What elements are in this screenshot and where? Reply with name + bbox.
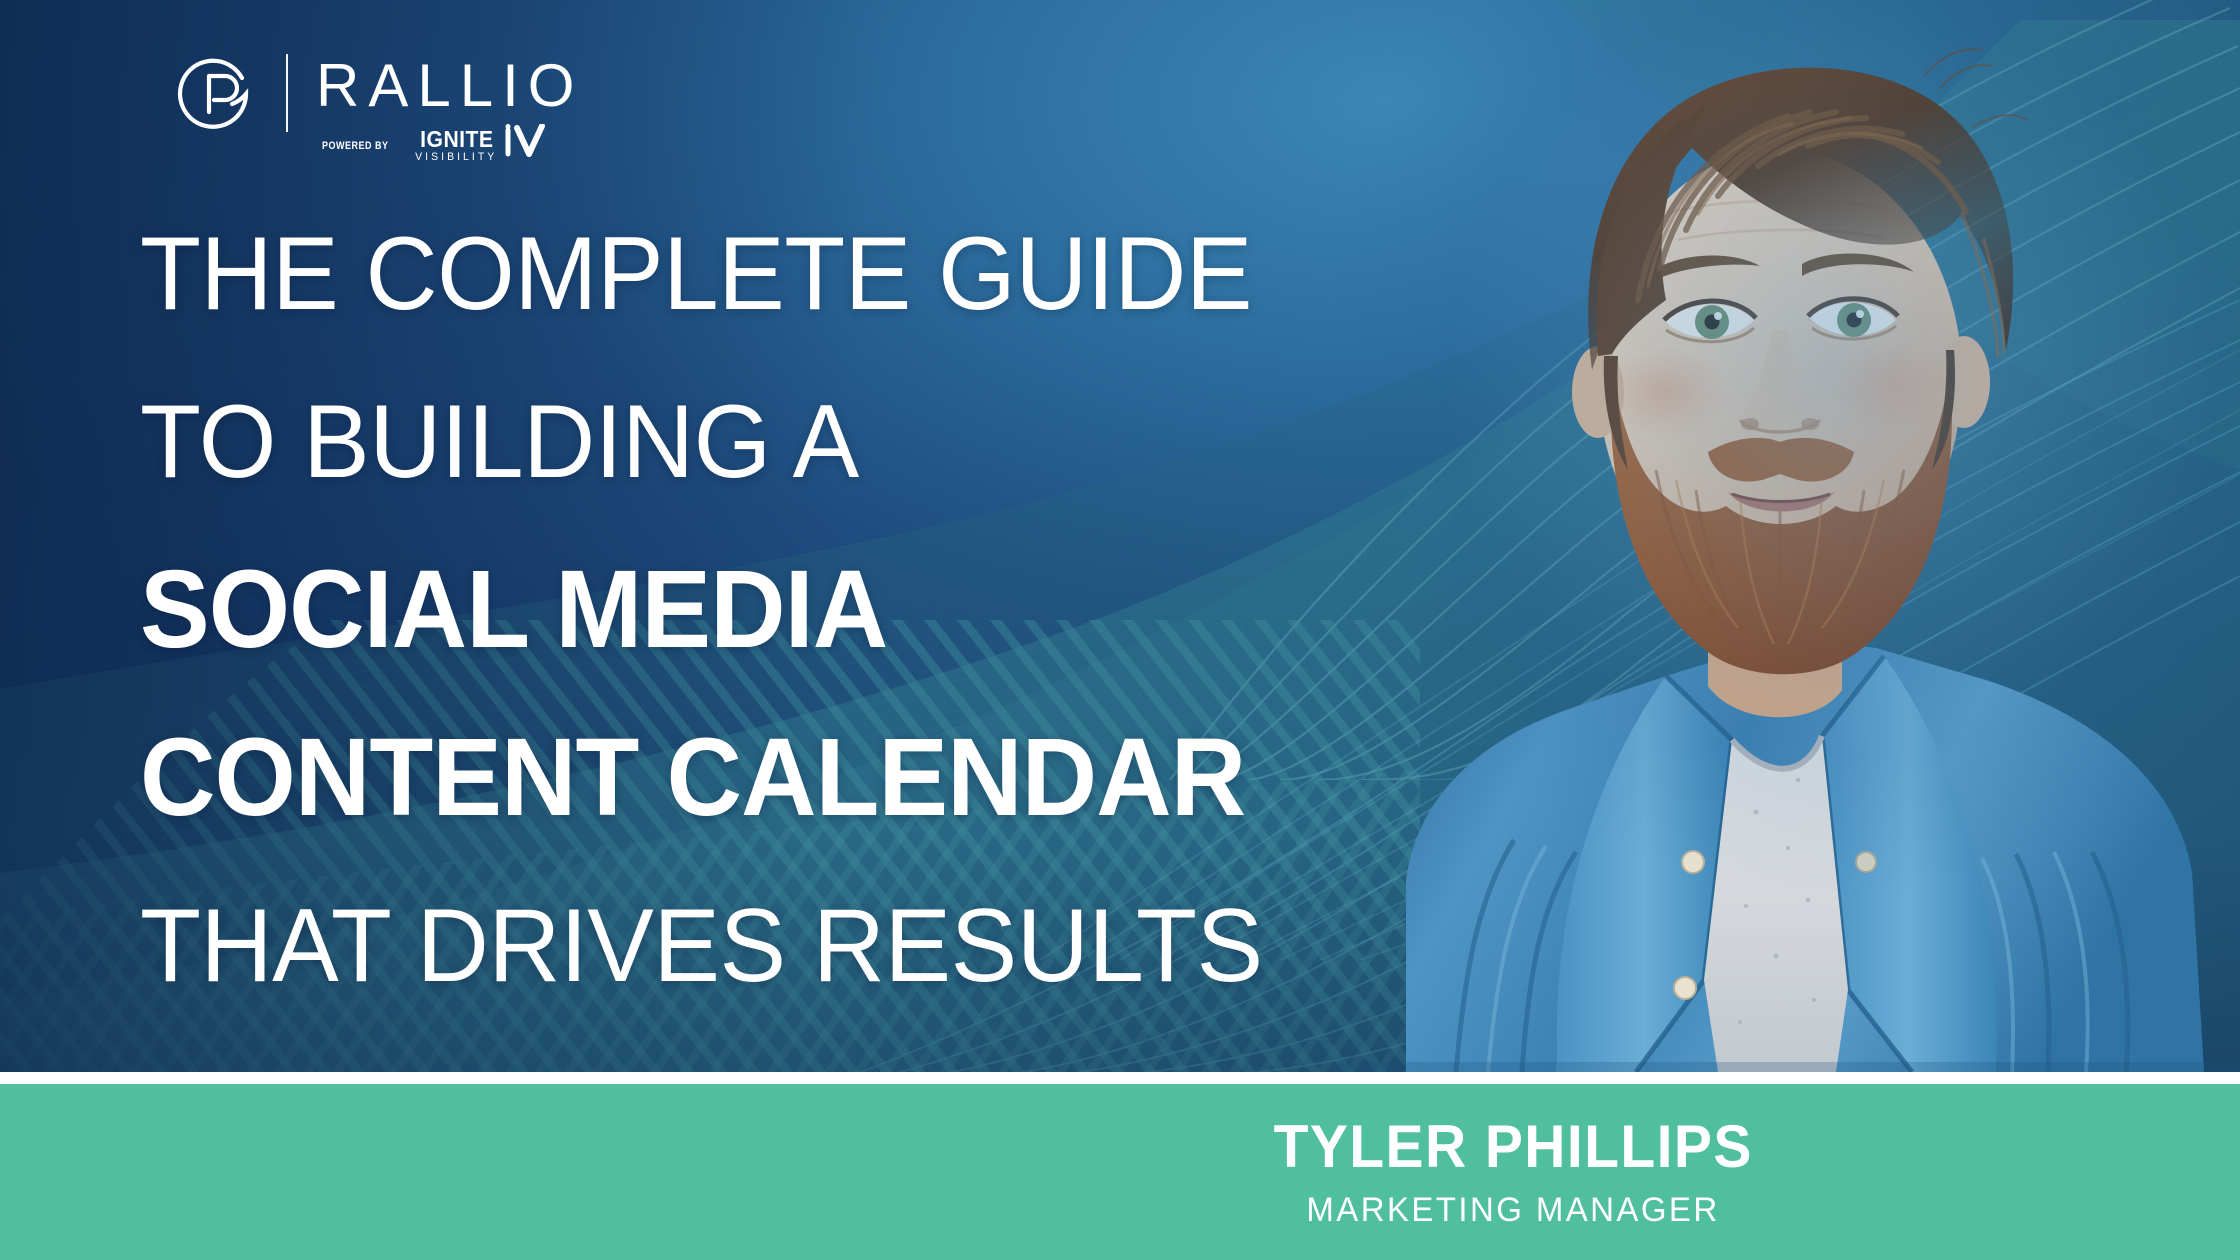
ignite-wordmark: IGNITE xyxy=(420,128,493,151)
rallio-wordmark: RALLIO xyxy=(316,48,583,124)
rallio-logo-lockup[interactable]: RALLIO POWERED BY IGNITE VISIBILITY xyxy=(176,48,583,163)
headline-block: THE COMPLETE GUIDE TO BUILDING A SOCIAL … xyxy=(140,232,1560,988)
ignite-visibility-logo: IGNITE VISIBILITY xyxy=(413,128,545,163)
webinar-title-card: RALLIO POWERED BY IGNITE VISIBILITY xyxy=(0,0,2240,1260)
rallio-circle-r-mark-icon xyxy=(176,50,260,134)
speaker-role: MARKETING MANAGER xyxy=(1306,1193,1719,1227)
visibility-wordmark: VISIBILITY xyxy=(415,152,497,163)
iv-monogram-icon xyxy=(502,124,546,163)
headline-line-4: CONTENT CALENDAR xyxy=(140,736,1489,820)
headline-line-2: TO BUILDING A xyxy=(140,400,1503,484)
headline-line-5: THAT DRIVES RESULTS xyxy=(140,904,1503,988)
speaker-credit-block: TYLER PHILLIPS MARKETING MANAGER xyxy=(860,1084,2240,1260)
powered-by-label: POWERED BY xyxy=(322,140,389,152)
headline-line-1: THE COMPLETE GUIDE xyxy=(140,232,1503,316)
headline-line-3: SOCIAL MEDIA xyxy=(140,568,1489,652)
logo-divider xyxy=(286,54,288,132)
powered-by-lockup: POWERED BY IGNITE VISIBILITY xyxy=(322,128,583,163)
white-divider-bar xyxy=(0,1072,2240,1084)
speaker-name: TYLER PHILLIPS xyxy=(1273,1117,1752,1177)
